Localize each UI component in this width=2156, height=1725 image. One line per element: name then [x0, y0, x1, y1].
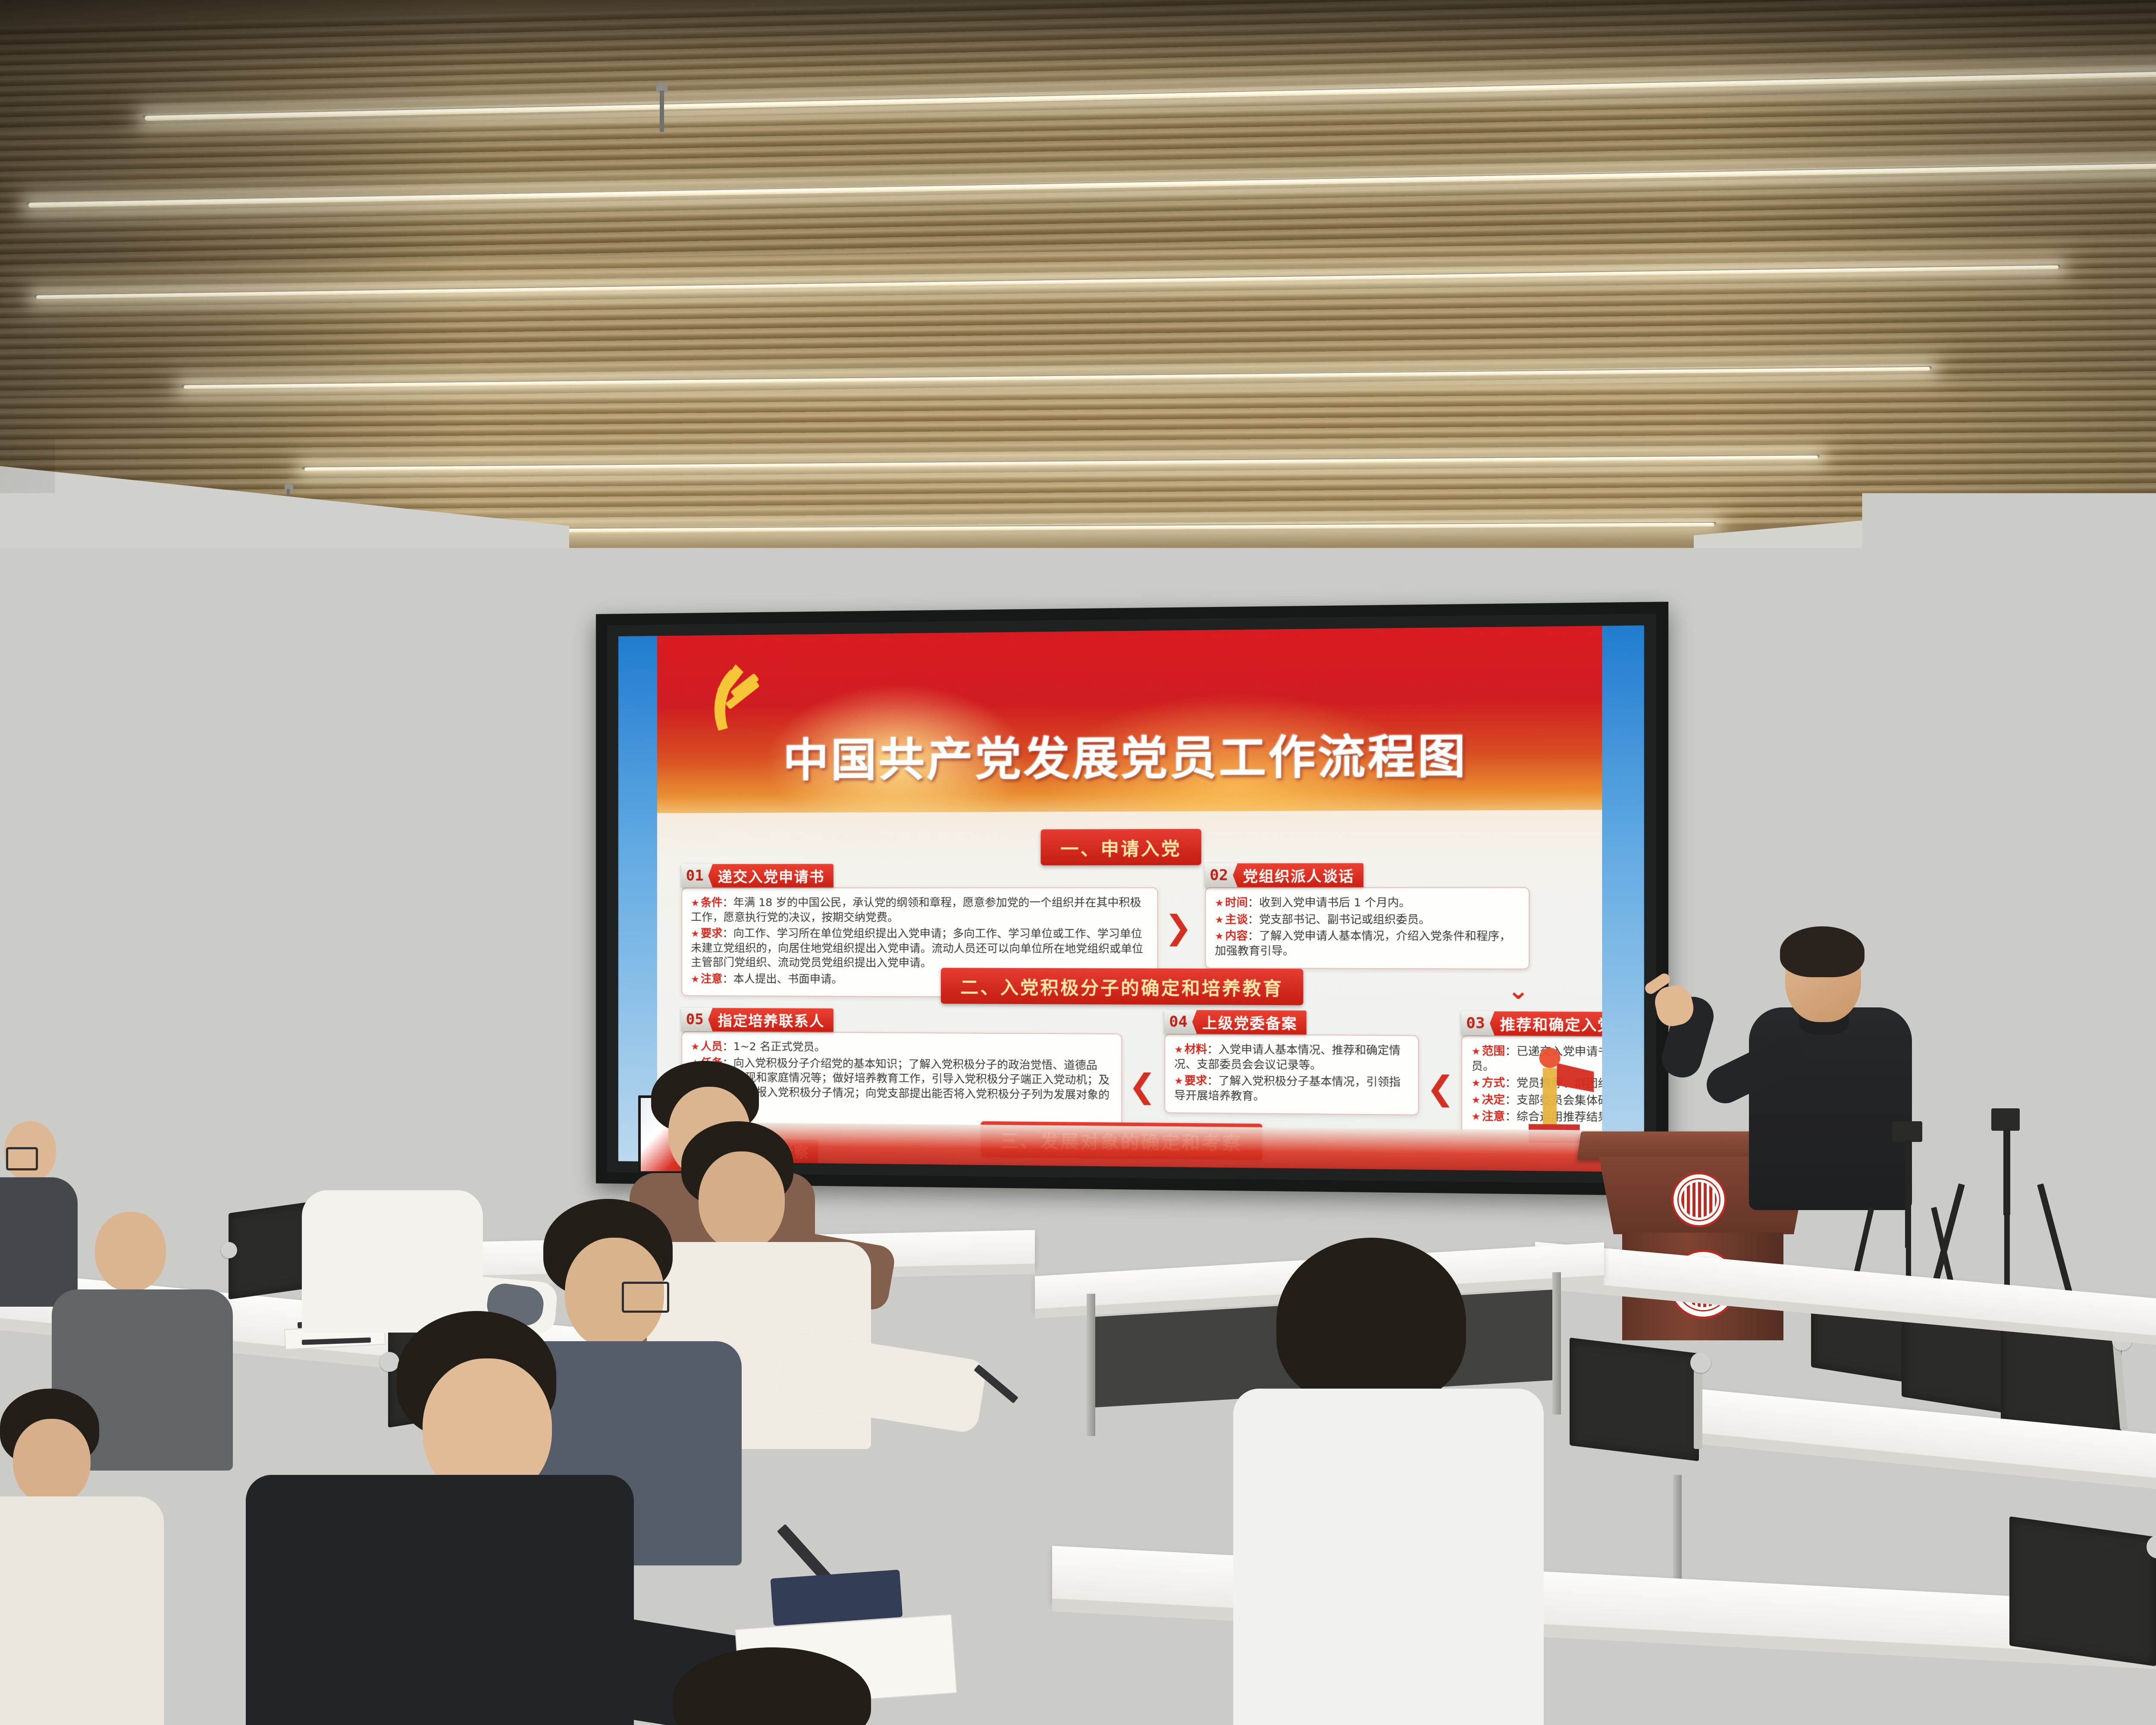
wall-speaker-right — [1893, 656, 1972, 769]
slide-step-01-tag: 01 递交入党申请书 — [681, 864, 834, 888]
slide-step-03-number: 03 — [1461, 1011, 1495, 1035]
slide-step-04-bullet-0: ★材料：入党申请人基本情况、推荐和确定情况、支部委员会会议记录等。 — [1174, 1042, 1409, 1073]
slide-step-02-bullet-2: ★内容：了解入党申请人基本情况，介绍入党条件和程序，加强教育引导。 — [1215, 928, 1519, 959]
classroom-lecture-photo: 中国共产党发展党员工作流程图 一、申请入党 01 递交入党申请书 ★条件：年满 … — [0, 0, 2156, 1725]
table-leg-c1 — [1087, 1294, 1095, 1436]
slide-step-04-title: 上级党委备案 — [1197, 1010, 1306, 1035]
slide-side-gradient-left — [618, 636, 659, 1161]
slide-step-04-number: 04 — [1164, 1010, 1197, 1034]
slide-arrow-04-to-05: ❮ — [1128, 1069, 1156, 1102]
presentation-slide: 中国共产党发展党员工作流程图 一、申请入党 01 递交入党申请书 ★条件：年满 … — [618, 625, 1644, 1172]
slide-step-02: 02 党组织派人谈话 ★时间：收到入党申请书后 1 个月内。 ★主谈：党支部书记… — [1205, 863, 1529, 969]
slide-step-01-number: 01 — [681, 864, 712, 888]
slide-side-gradient-right — [1600, 625, 1644, 1172]
table-leg-r1 — [1673, 1475, 1682, 1596]
speaker-bracket-right-post — [1966, 759, 1976, 819]
slide-step-03-title: 推荐和确定入党积极分子 — [1495, 1011, 1602, 1036]
presenter-hair — [1780, 926, 1865, 977]
speaker-bracket-left-post — [203, 742, 212, 806]
slide-step-01-bullet-1: ★要求：向工作、学习所在单位党组织提出入党申请；多向工作、学习单位或工作、学习单… — [691, 926, 1148, 971]
slide-step-05-tag: 05 指定培养联系人 — [681, 1008, 834, 1032]
slide-step-02-bullet-0: ★时间：收到入党申请书后 1 个月内。 — [1215, 895, 1519, 910]
slide-step-04-card: ★材料：入党申请人基本情况、推荐和确定情况、支部委员会会议记录等。 ★要求：了解… — [1164, 1034, 1419, 1115]
wall-speaker-left — [233, 643, 319, 759]
slide-section-banner-1: 一、申请入党 — [1041, 829, 1201, 866]
slide-step-02-tag: 02 党组织派人谈话 — [1205, 863, 1363, 888]
slide-step-02-title: 党组织派人谈话 — [1238, 863, 1363, 888]
slide-title: 中国共产党发展党员工作流程图 — [657, 718, 1602, 790]
slide-arrow-01-to-02: ❯ — [1164, 911, 1192, 944]
speaker-bracket-right-arm — [1923, 779, 1975, 787]
slide-step-04: 04 上级党委备案 ★材料：入党申请人基本情况、推荐和确定情况、支部委员会会议记… — [1164, 1010, 1419, 1115]
sprinkler-drop-1 — [660, 91, 664, 132]
slide-step-04-tag: 04 上级党委备案 — [1164, 1010, 1307, 1035]
smartphone-on-table[interactable] — [771, 1570, 903, 1626]
slide-step-01-bullet-0: ★条件：年满 18 岁的中国公民，承认党的纲领和章程，愿意参加党的一个组织并在其… — [691, 895, 1148, 925]
speaker-bracket-left-arm — [203, 763, 259, 772]
slide-step-02-bullet-1: ★主谈：党支部书记、副书记或组织委员。 — [1215, 912, 1519, 927]
slide-step-01-title: 递交入党申请书 — [713, 864, 834, 888]
slide-section-banner-2: 二、入党积极分子的确定和培养教育 — [941, 968, 1304, 1005]
attendee-cream-cap — [1544, 1604, 1789, 1725]
slide-arrow-03-to-04: ❮ — [1426, 1072, 1455, 1105]
slide-step-04-bullet-1: ★要求：了解入党积极分子基本情况，引领指导开展培养教育。 — [1174, 1073, 1409, 1104]
table-leg-c2 — [1552, 1272, 1561, 1414]
slide-step-05-title: 指定培养联系人 — [713, 1008, 834, 1032]
slide-step-02-card: ★时间：收到入党申请书后 1 个月内。 ★主谈：党支部书记、副书记或组织委员。 … — [1205, 887, 1529, 969]
slide-footer-gradient — [657, 1122, 1602, 1172]
slide-step-05-number: 05 — [681, 1008, 712, 1032]
slide-content-area: 中国共产党发展党员工作流程图 一、申请入党 01 递交入党申请书 ★条件：年满 … — [657, 626, 1602, 1172]
slatted-wood-ceiling — [0, 0, 2156, 569]
slide-step-02-number: 02 — [1205, 863, 1237, 887]
slide-step-03-tag: 03 推荐和确定入党积极分子 — [1461, 1011, 1602, 1037]
slide-step-05-bullet-0: ★人员：1~2 名正式党员。 — [691, 1039, 1112, 1056]
